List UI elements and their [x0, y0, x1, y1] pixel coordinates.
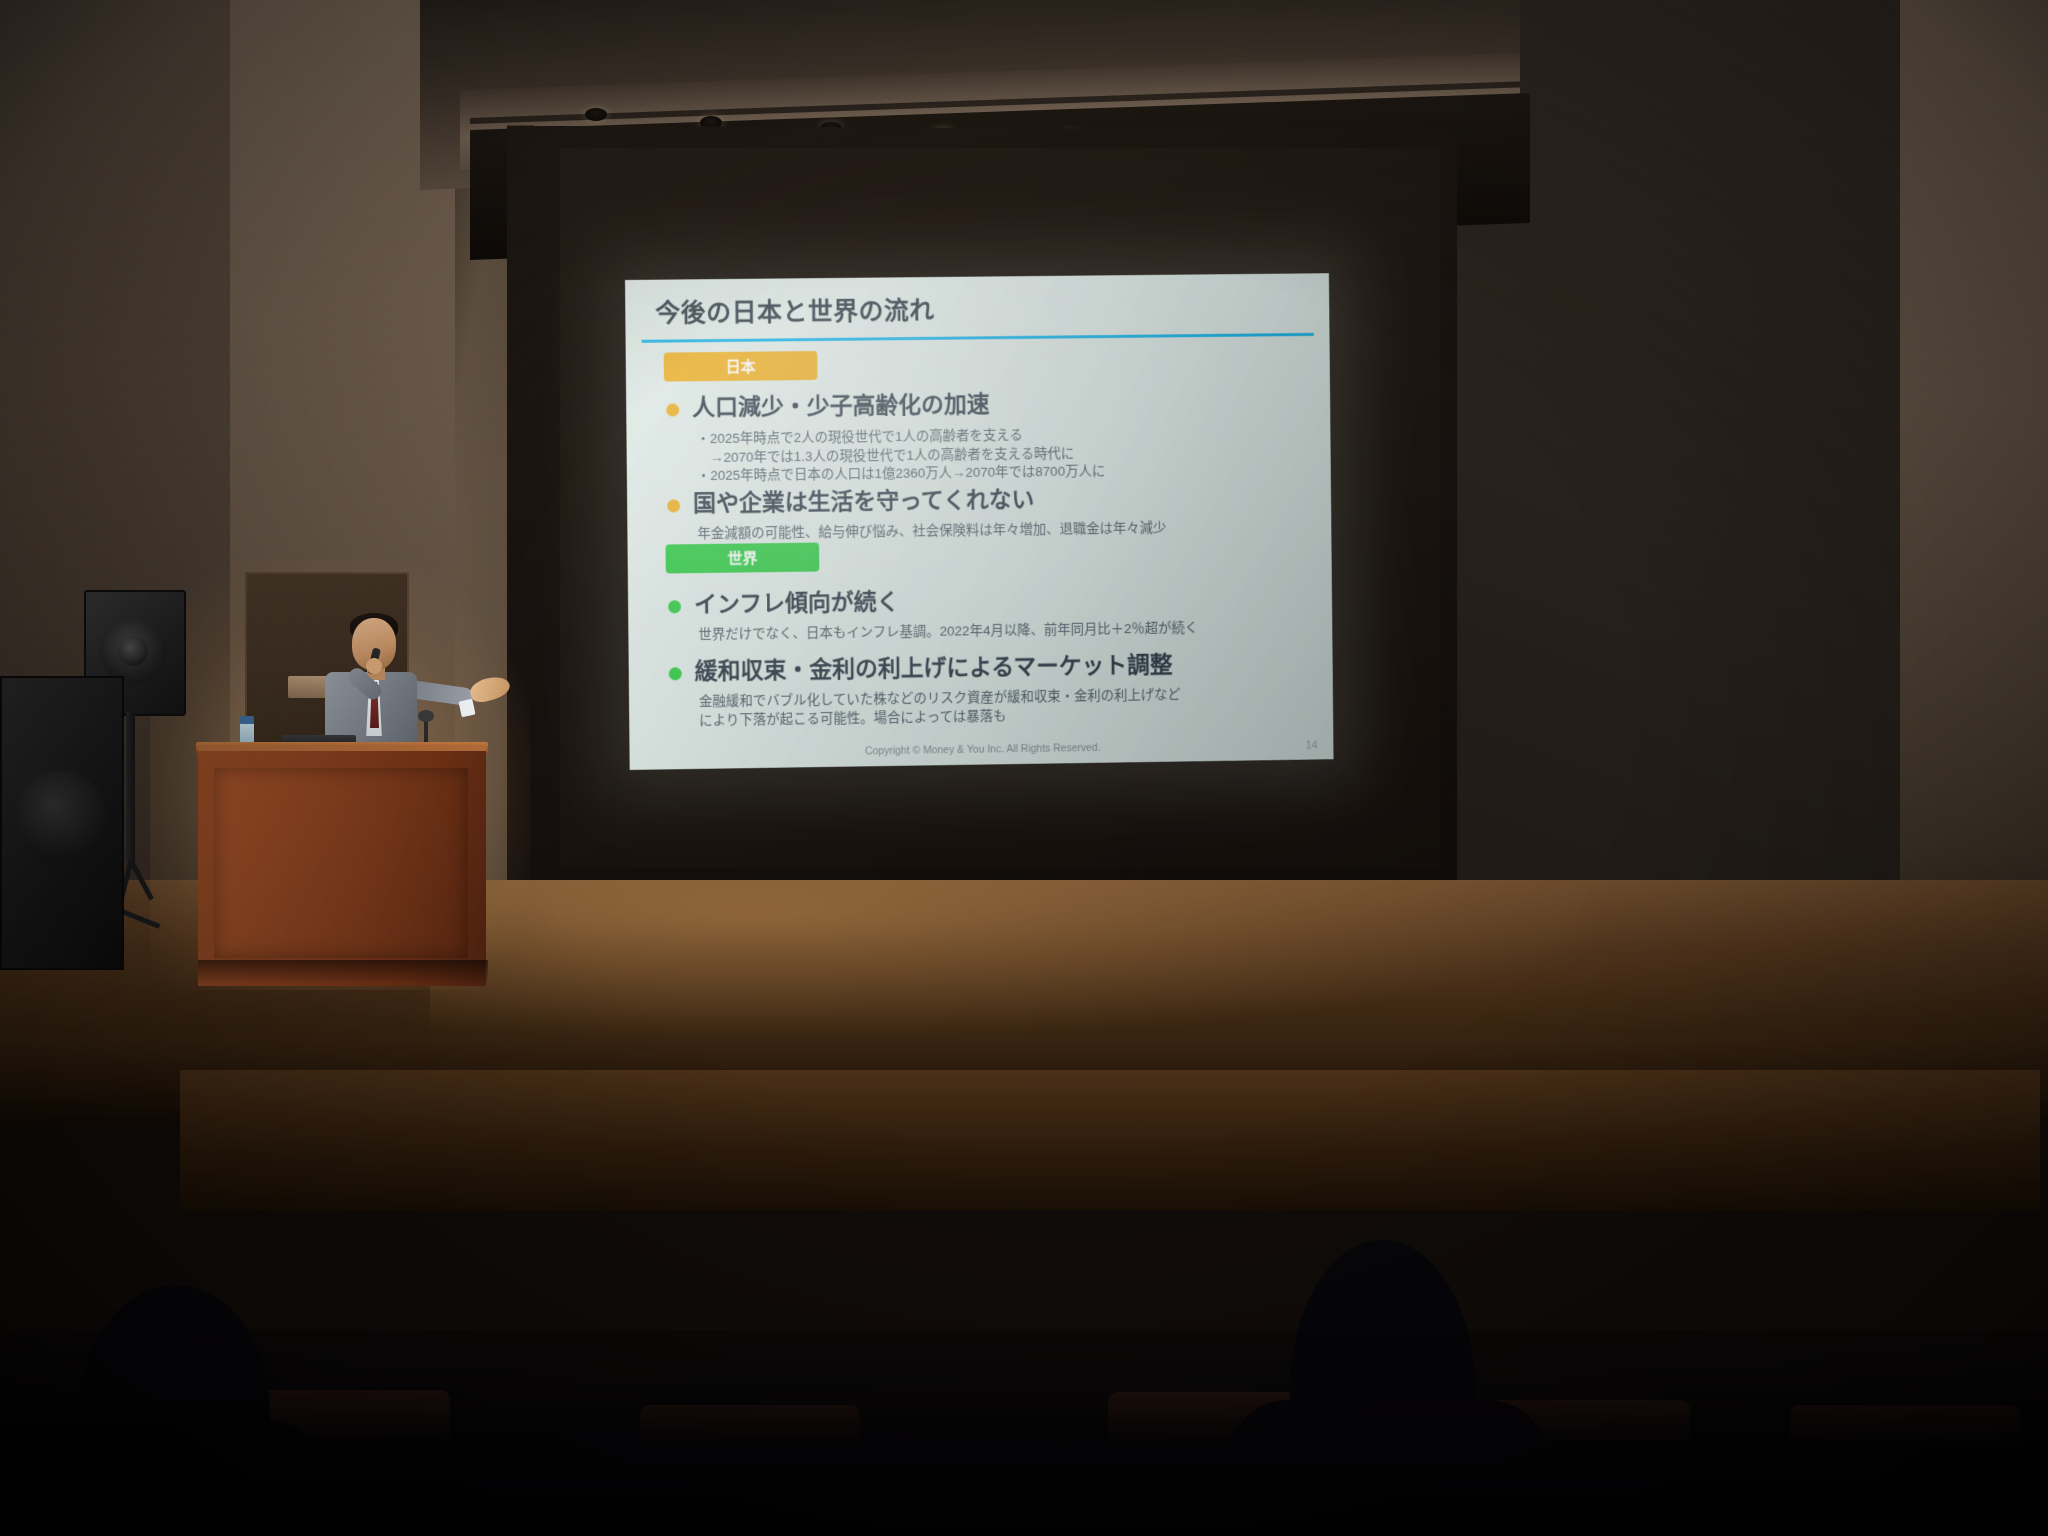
bullet-japan-2-sub: 年金減額の可能性、給与伸び悩み、社会保険料は年々増加、退職金は年々減少	[697, 519, 1166, 543]
bullet-japan-1: 人口減少・少子高齢化の加速	[666, 391, 990, 421]
bottle-cap	[240, 716, 254, 724]
sub-line: 年金減額の可能性、給与伸び悩み、社会保険料は年々増加、退職金は年々減少	[697, 519, 1166, 543]
auditorium-scene: 今後の日本と世界の流れ 日本 人口減少・少子高齢化の加速 ・2025年時点で2人…	[0, 0, 2048, 1536]
sub-line: ・2025年時点で日本の人口は1億2360万人→2070年では8700万人に	[697, 463, 1106, 486]
wall-far-right	[1900, 0, 2048, 1000]
bullet-world-1-sub: 世界だけでなく、日本もインフレ基調。2022年4月以降、前年同月比＋2％超が続く	[698, 619, 1198, 644]
title-accent-rule	[642, 333, 1314, 343]
presenter-left-hand	[366, 658, 382, 674]
podium-microphone-icon	[418, 710, 434, 722]
bullet-dot-icon	[669, 667, 682, 680]
bullet-world-2-sub: 金融緩和でバブル化していた株などのリスク資産が緩和収束・金利の利上げなど により…	[699, 686, 1181, 730]
slide-copyright: Copyright © Money & You Inc. All Rights …	[865, 742, 1101, 758]
speaker-cone-icon	[14, 770, 106, 862]
podium-front-panel	[214, 768, 468, 958]
slide-page-number: 14	[1306, 740, 1318, 752]
bullet-japan-1-sub: ・2025年時点で2人の現役世代で1人の高齢者を支える →2070年では1.3人…	[696, 426, 1105, 486]
bullet-heading: 国や企業は生活を守ってくれない	[693, 486, 1034, 517]
stage-apron	[180, 1070, 2040, 1210]
downlight-icon	[585, 108, 607, 121]
bullet-heading: インフレ傾向が続く	[694, 588, 900, 617]
speaker-stand	[126, 712, 135, 862]
presenter-cuff	[458, 699, 475, 718]
bullet-heading: 緩和収束・金利の利上げによるマーケット調整	[695, 651, 1173, 684]
section-badge-world: 世界	[666, 543, 820, 574]
foreground-shadow	[0, 1330, 2048, 1536]
bullet-dot-icon	[666, 403, 679, 416]
slide-title: 今後の日本と世界の流れ	[655, 291, 935, 330]
bullet-dot-icon	[667, 499, 680, 512]
bullet-heading: 人口減少・少子高齢化の加速	[692, 391, 990, 421]
speaker-tweeter-icon	[118, 636, 148, 666]
bullet-japan-2: 国や企業は生活を守ってくれない	[667, 486, 1034, 517]
projected-slide: 今後の日本と世界の流れ 日本 人口減少・少子高齢化の加速 ・2025年時点で2人…	[625, 273, 1334, 770]
section-badge-japan: 日本	[664, 351, 818, 382]
podium-shadow	[198, 960, 488, 984]
bullet-world-2: 緩和収束・金利の利上げによるマーケット調整	[669, 651, 1173, 684]
sub-line: 世界だけでなく、日本もインフレ基調。2022年4月以降、前年同月比＋2％超が続く	[698, 619, 1198, 644]
bullet-dot-icon	[668, 600, 681, 613]
bullet-world-1: インフレ傾向が続く	[668, 588, 900, 617]
